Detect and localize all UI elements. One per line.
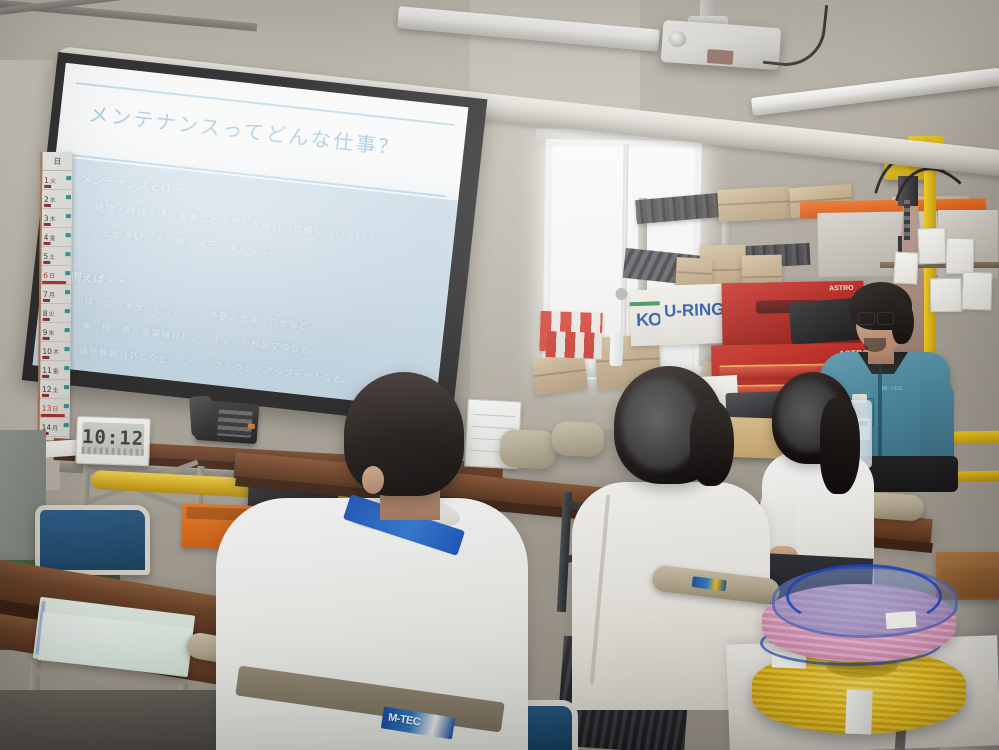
carton-brand-label-2: U-RING: [664, 300, 725, 322]
screen-surface: メンテナンスってどんな仕事？ メンテナンスとは・・ 建物・機械・通信設備などの機…: [32, 63, 468, 410]
instructor-arm-right: [920, 380, 954, 468]
calendar-marker: [44, 204, 51, 207]
calendar-marker: [43, 318, 50, 321]
calendar-tab-icon: [66, 233, 71, 237]
tool-chest-brand-upper: ASTRO: [829, 285, 854, 292]
eyeglasses-icon: [858, 312, 894, 323]
calendar-date: 12: [42, 384, 52, 393]
student-front-ear: [362, 466, 384, 494]
calendar-marker: [42, 394, 49, 397]
calendar-weekday: 日: [49, 270, 55, 279]
instructor-uniform-logo: M-TEC: [882, 386, 904, 392]
calendar-marker: [43, 337, 50, 340]
calendar-row: 3木: [42, 209, 72, 228]
classroom-photo-scene: KOWA U-RING ASTRO ASTRO: [0, 0, 999, 750]
wall-notice: [893, 251, 919, 284]
calendar-row: 12土: [40, 380, 70, 399]
calendar-tab-icon: [66, 176, 71, 180]
projector-lens-icon: [668, 30, 687, 47]
student-right-hair: [820, 398, 860, 494]
calendar-row: 13日: [40, 399, 70, 418]
calendar-row: 4金: [42, 228, 72, 247]
calendar-tab-icon: [64, 423, 69, 427]
wall-notice: [946, 238, 975, 274]
calendar-tab-icon: [64, 404, 69, 408]
cardboard-box: [717, 186, 793, 222]
calendar-tab-icon: [64, 385, 69, 389]
plastic-bottle: [609, 332, 623, 366]
calendar-weekday: 火: [49, 308, 55, 317]
calendar-weekday: 月: [52, 422, 58, 431]
coil-label: [885, 611, 916, 629]
calendar-date: 6: [43, 270, 48, 279]
clock-time-text: 10:12: [82, 428, 145, 449]
calendar-tab-icon: [66, 214, 71, 218]
calendar-date: 7: [43, 289, 48, 298]
calendar-date: 5: [43, 251, 48, 260]
calendar-tab-icon: [64, 347, 69, 351]
chair-brand-sticker: [692, 576, 727, 591]
phone-handset[interactable]: [189, 395, 214, 436]
whiteboard-rule: [472, 426, 514, 429]
calendar-row: 10木: [40, 342, 70, 361]
calendar-marker: [42, 281, 66, 284]
calendar-date: 8: [43, 308, 48, 317]
wall-notice: [930, 278, 963, 313]
calendar-weekday: 水: [50, 194, 56, 203]
student-middle-hair: [690, 400, 734, 486]
clock-lower-strip: [82, 447, 144, 456]
calendar-rows: 1火2水3木4金5土6日7月8火9水10木11金12土13日14月15火: [39, 171, 72, 440]
calendar-weekday: 月: [49, 289, 55, 298]
blue-wire-loop: [786, 564, 942, 628]
instructor-hair-side: [892, 300, 914, 344]
desk-phone[interactable]: [195, 400, 260, 444]
wall-calendar: 日 1火2水3木4金5土6日7月8火9水10木11金12土13日14月15火: [37, 152, 72, 440]
calendar-weekday: 火: [50, 175, 56, 184]
calendar-row: 2水: [42, 190, 72, 209]
calendar-tab-icon: [65, 328, 70, 332]
calendar-header: 日: [42, 152, 72, 171]
calendar-row: 7月: [41, 285, 71, 304]
calendar-row: 6日: [41, 266, 71, 285]
calendar-tab-icon: [64, 366, 69, 370]
calendar-date: 9: [43, 327, 48, 336]
calendar-weekday: 木: [50, 213, 56, 222]
calendar-date: 4: [44, 232, 49, 241]
blurred-face-mask: [622, 378, 700, 470]
calendar-marker: [42, 356, 49, 359]
whiteboard-rule: [473, 414, 515, 417]
floor: [0, 690, 240, 750]
calendar-weekday: 水: [48, 327, 54, 336]
folding-chair[interactable]: [551, 421, 605, 458]
calendar-tab-icon: [65, 271, 70, 275]
calendar-date: 10: [42, 346, 52, 355]
calendar-weekday: 日: [52, 403, 58, 412]
calendar-date: 2: [44, 194, 49, 203]
calendar-marker: [43, 261, 50, 264]
digital-clock: 10:12: [75, 416, 151, 467]
calendar-weekday: 木: [53, 346, 59, 355]
presentation-slide: メンテナンスってどんな仕事？ メンテナンスとは・・ 建物・機械・通信設備などの機…: [32, 63, 468, 410]
calendar-row: 11金: [40, 361, 70, 380]
calendar-weekday: 金: [49, 232, 55, 241]
calendar-marker: [44, 185, 51, 188]
calendar-date: 3: [44, 213, 49, 222]
calendar-marker: [43, 299, 50, 302]
calendar-header-day: 日: [53, 155, 61, 166]
calendar-row: 9水: [41, 323, 71, 342]
calendar-marker: [41, 414, 65, 417]
calendar-weekday: 金: [53, 365, 59, 374]
calendar-date: 11: [42, 365, 52, 374]
calendar-tab-icon: [65, 290, 70, 294]
wall-notice: [917, 228, 946, 265]
coil-packing-tape: [845, 690, 873, 735]
folding-chair[interactable]: [499, 429, 557, 470]
calendar-row: 1火: [42, 171, 72, 190]
calendar-marker: [44, 223, 51, 226]
cardboard-box: [532, 353, 588, 395]
wall-notice: [961, 271, 992, 310]
calendar-weekday: 土: [53, 384, 59, 393]
projection-screen: メンテナンスってどんな仕事？ メンテナンスとは・・ 建物・機械・通信設備などの機…: [22, 52, 488, 427]
calendar-date: 1: [44, 175, 49, 184]
calendar-marker: [42, 375, 49, 378]
calendar-row: 8火: [41, 304, 71, 323]
phone-indicator-led: [248, 423, 255, 428]
blue-folding-chair[interactable]: [35, 505, 150, 575]
calendar-weekday: 土: [49, 251, 55, 260]
calendar-date: 13: [42, 403, 52, 412]
calendar-row: 5土: [41, 247, 71, 266]
instructor-beard: [864, 338, 886, 352]
calendar-tab-icon: [65, 252, 70, 256]
calendar-tab-icon: [65, 309, 70, 313]
instructor-shirt-placket: [878, 364, 882, 456]
calendar-marker: [44, 242, 51, 245]
small-parts-boxes: [546, 331, 603, 359]
window-lock-handle[interactable]: [616, 288, 628, 300]
calendar-tab-icon: [66, 195, 71, 199]
